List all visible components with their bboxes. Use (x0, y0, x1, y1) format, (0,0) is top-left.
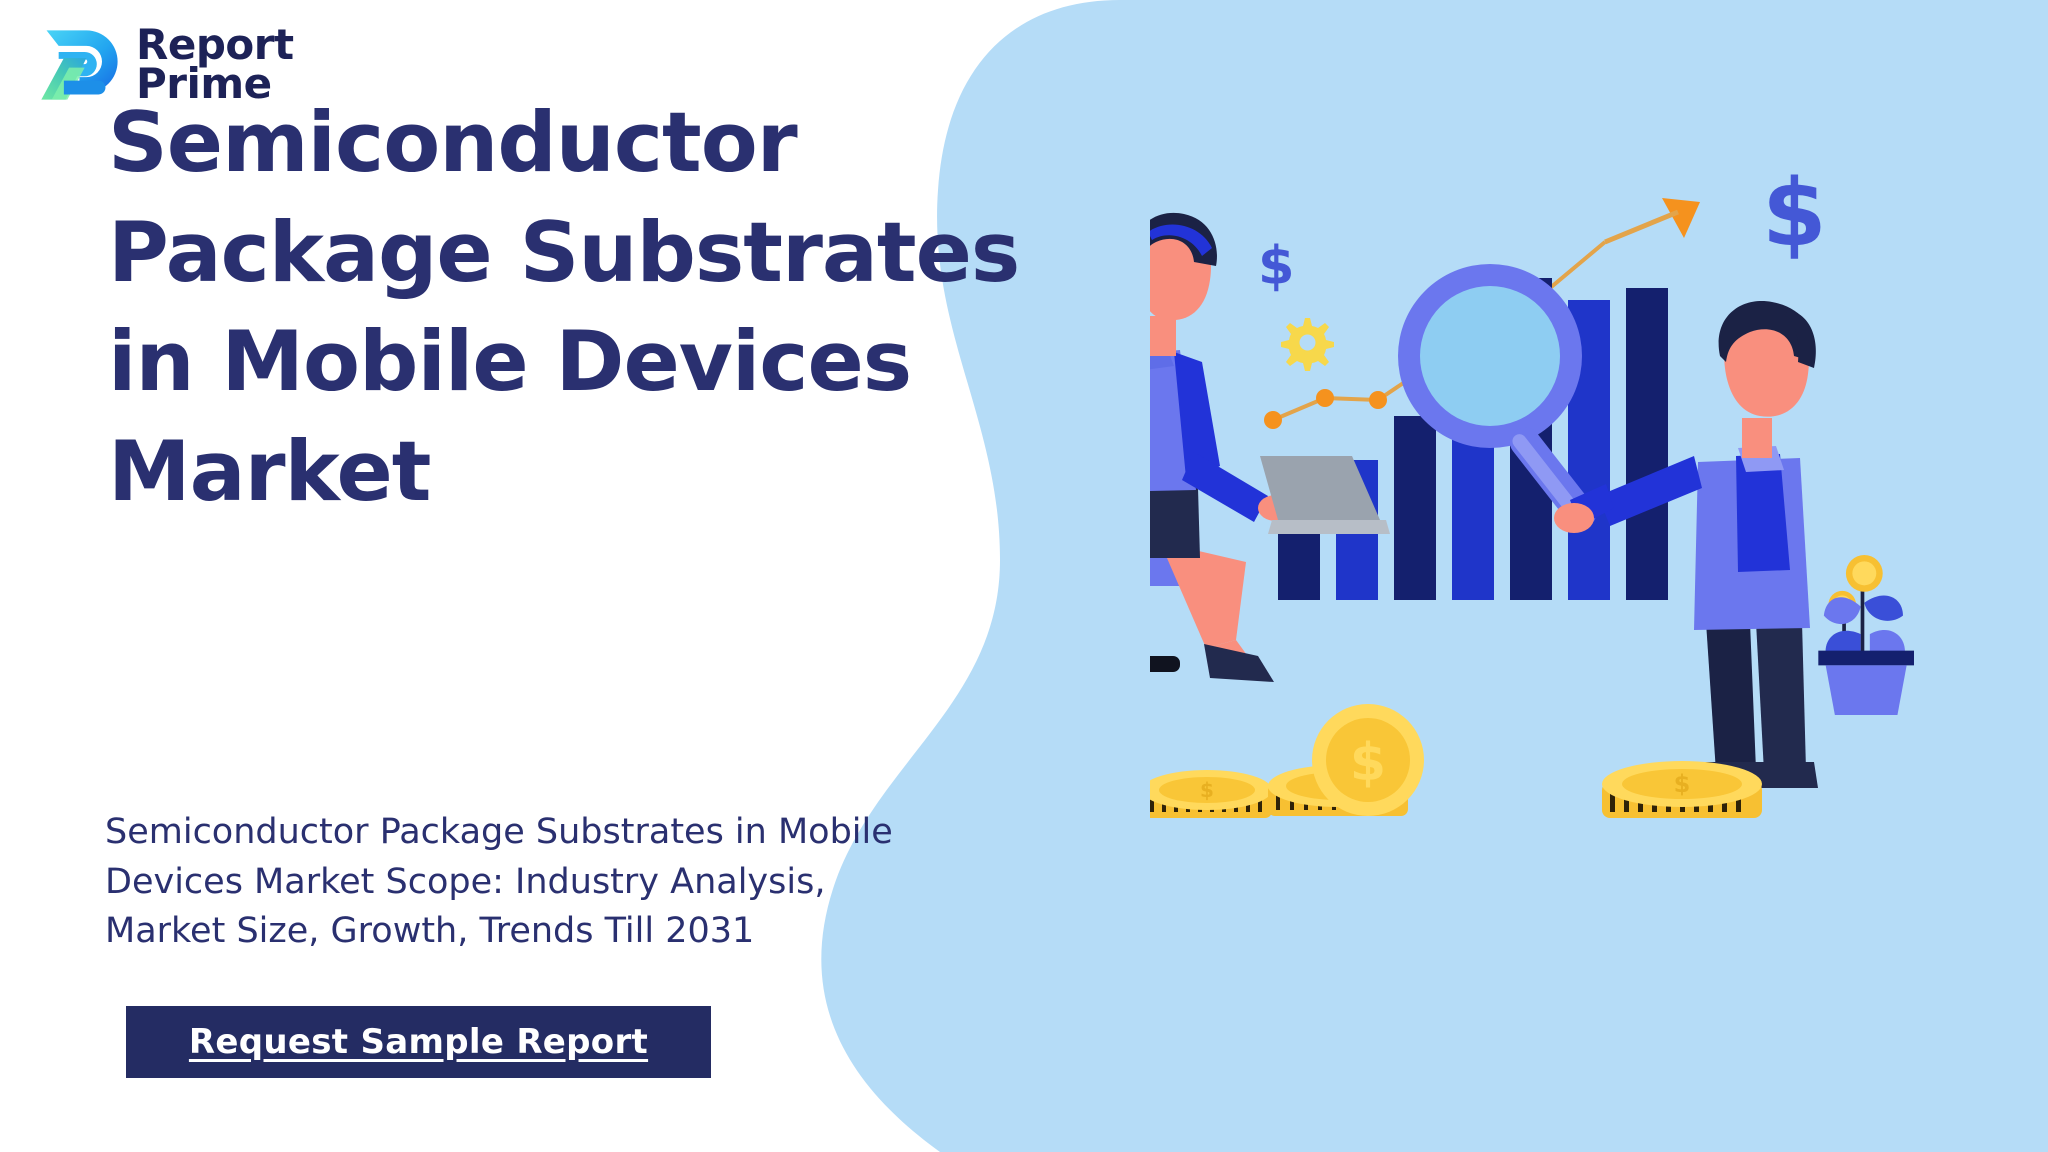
dollar-sign-icon: $ (1258, 236, 1295, 297)
gear-icon (1281, 318, 1334, 371)
dollar-sign-icon: $ (1762, 170, 1827, 267)
growth-arrow-icon (1605, 198, 1700, 242)
neck (1150, 316, 1176, 356)
market-research-illustration: $ $ (1150, 170, 1950, 870)
svg-text:$: $ (1350, 733, 1386, 793)
report-banner: Report Prime Semiconductor Package Subst… (0, 0, 2048, 1152)
laptop-base (1268, 520, 1390, 534)
bar-7 (1626, 288, 1668, 600)
coin-stack: $ (1602, 761, 1762, 818)
svg-text:$: $ (1200, 778, 1214, 802)
request-sample-report-button[interactable]: Request Sample Report (126, 1006, 711, 1078)
hand (1554, 503, 1594, 533)
neck (1742, 418, 1772, 458)
bar-3 (1394, 416, 1436, 600)
svg-text:$: $ (1258, 236, 1295, 297)
svg-text:$: $ (1762, 170, 1827, 267)
pot-rim (1818, 651, 1914, 666)
leaf (1864, 596, 1903, 621)
chair-base (1150, 656, 1180, 672)
coin-large: $ (1312, 704, 1424, 816)
page-subtitle: Semiconductor Package Substrates in Mobi… (105, 808, 935, 957)
pot (1826, 665, 1907, 715)
coin-stack: $ (1150, 770, 1272, 818)
skirt (1150, 488, 1200, 558)
svg-text:$: $ (1674, 770, 1691, 798)
page-title: Semiconductor Package Substrates in Mobi… (108, 88, 1068, 526)
request-sample-report-label: Request Sample Report (189, 1022, 648, 1062)
money-plant (1818, 555, 1914, 715)
leg-front (1756, 622, 1806, 772)
leg-back (1706, 622, 1756, 772)
